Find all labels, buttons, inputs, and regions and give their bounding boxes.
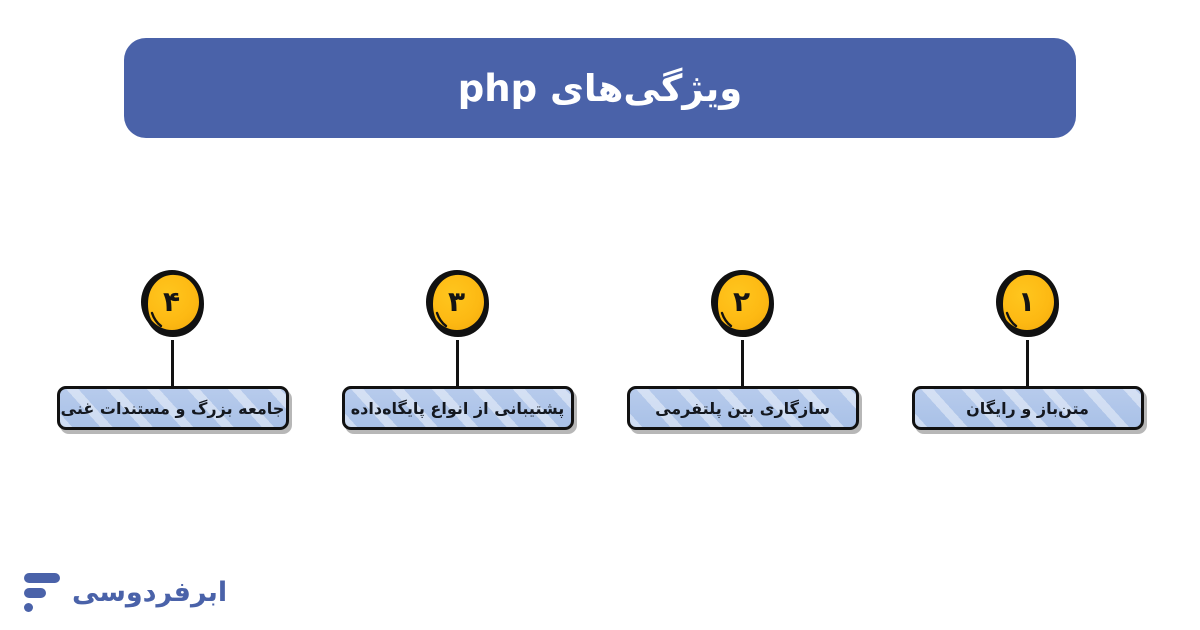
logo-text: ابرفردوسی	[72, 577, 227, 608]
bubble-circle: ۴	[141, 270, 203, 334]
feature-label-text: جامعه بزرگ و مستندات غنی	[61, 399, 285, 418]
feature-label-box[interactable]: پشتیبانی از انواع پایگاه‌داده	[342, 386, 574, 430]
feature-label-box[interactable]: متن‌باز و رایگان	[912, 386, 1144, 430]
bubble-circle: ۳	[426, 270, 488, 334]
feature-items-row: ۱ متن‌باز و رایگان ۲ سازگاری بین پلتفرمی	[0, 268, 1200, 438]
connector-line	[1026, 340, 1029, 386]
page-title: ویژگی‌های php	[458, 67, 743, 110]
feature-label-text: سازگاری بین پلتفرمی	[655, 399, 830, 418]
feature-label-box[interactable]: جامعه بزرگ و مستندات غنی	[57, 386, 289, 430]
logo-dot	[24, 603, 33, 612]
logo-bar-top	[24, 573, 60, 583]
feature-item-1[interactable]: ۱ متن‌باز و رایگان	[885, 268, 1170, 430]
number-bubble-2: ۲	[706, 268, 780, 342]
feature-item-2[interactable]: ۲ سازگاری بین پلتفرمی	[600, 268, 885, 430]
number-bubble-4: ۴	[136, 268, 210, 342]
connector-line	[171, 340, 174, 386]
feature-item-4[interactable]: ۴ جامعه بزرگ و مستندات غنی	[30, 268, 315, 430]
bubble-number-label: ۴	[163, 288, 180, 316]
feature-label-box[interactable]: سازگاری بین پلتفرمی	[627, 386, 859, 430]
logo-bar-middle	[24, 588, 46, 598]
connector-line	[456, 340, 459, 386]
number-bubble-3: ۳	[421, 268, 495, 342]
brand-logo[interactable]: ابرفردوسی	[18, 569, 227, 615]
bubble-circle: ۲	[711, 270, 773, 334]
feature-item-3[interactable]: ۳ پشتیبانی از انواع پایگاه‌داده	[315, 268, 600, 430]
bubble-circle: ۱	[996, 270, 1058, 334]
bubble-number-label: ۲	[733, 288, 750, 316]
title-banner: ویژگی‌های php	[124, 38, 1076, 138]
number-bubble-1: ۱	[991, 268, 1065, 342]
feature-label-text: پشتیبانی از انواع پایگاه‌داده	[351, 399, 565, 418]
bubble-number-label: ۱	[1018, 288, 1035, 316]
connector-line	[741, 340, 744, 386]
feature-label-text: متن‌باز و رایگان	[966, 399, 1089, 418]
bubble-number-label: ۳	[448, 288, 465, 316]
three-bars-dot-icon	[18, 569, 62, 615]
